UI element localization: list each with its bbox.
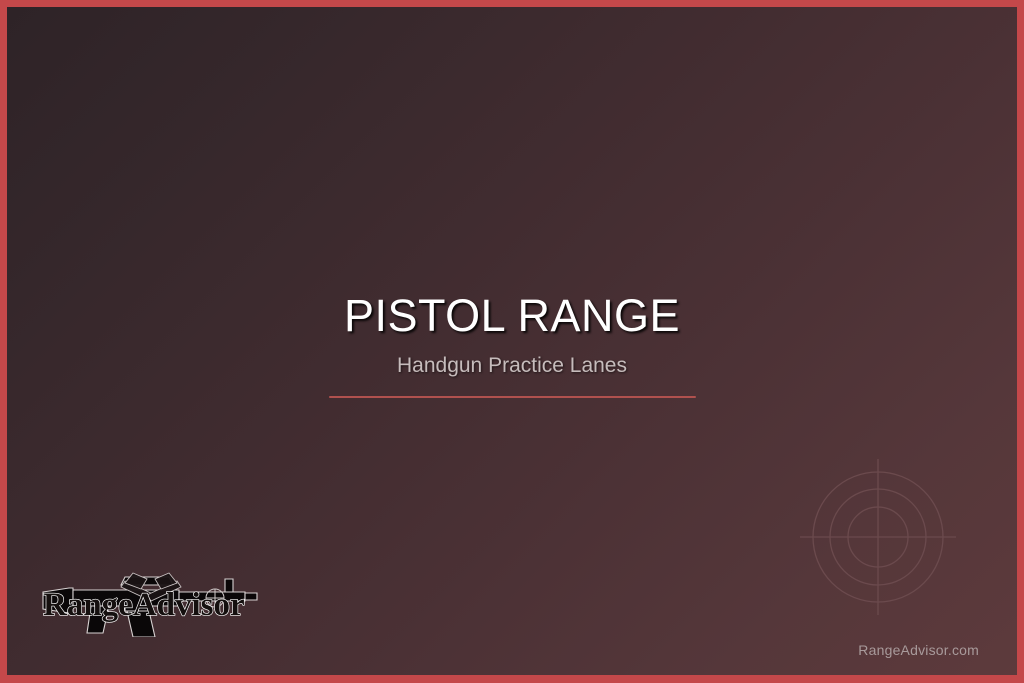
presentation-slide: PISTOL RANGE Handgun Practice Lanes (0, 0, 1024, 683)
footer-site-name: RangeAdvisor.com (858, 642, 979, 658)
page-title: PISTOL RANGE (7, 293, 1017, 340)
page-subtitle: Handgun Practice Lanes (7, 354, 1017, 377)
title-divider (329, 396, 696, 398)
logo-wordmark: RangeAdvisor (43, 587, 245, 623)
title-block: PISTOL RANGE Handgun Practice Lanes (7, 293, 1017, 398)
brand-logo: RangeAdvisor (29, 559, 267, 637)
